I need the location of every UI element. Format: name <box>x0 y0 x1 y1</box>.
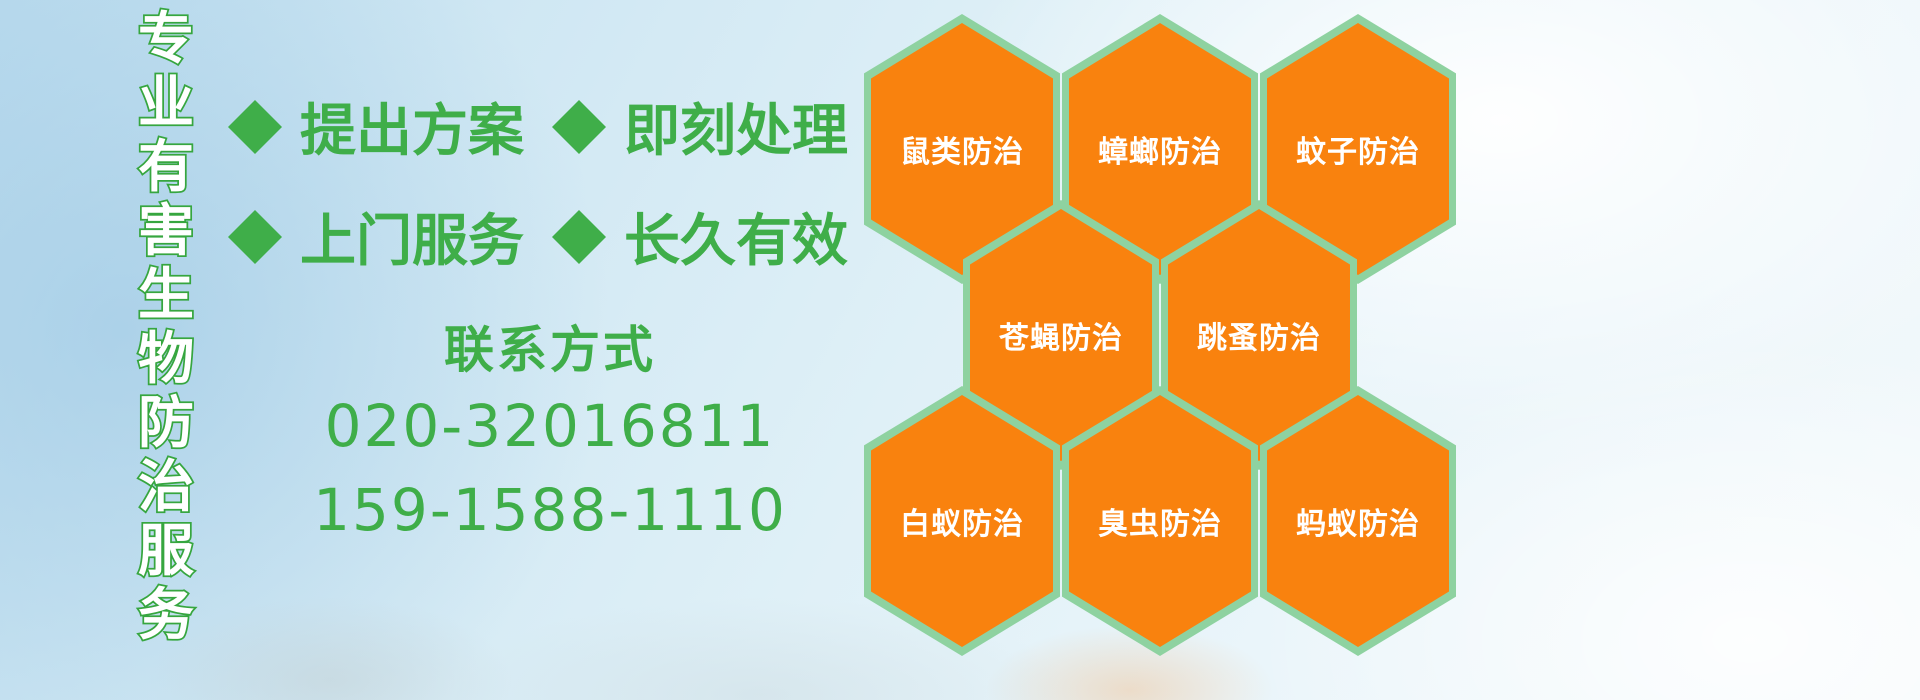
vertical-headline-char: 物 <box>138 328 194 392</box>
feature-row: 上门服务 长久有效 <box>228 196 848 277</box>
feature-item: 即刻处理 <box>552 86 848 167</box>
diamond-bullet-icon <box>228 73 282 127</box>
service-hex-label: 白蚁防治 <box>900 499 1024 543</box>
service-hex-label: 鼠类防治 <box>900 127 1024 171</box>
contact-phone-landline[interactable]: 020-32016811 <box>250 384 850 468</box>
promo-banner: 专 业 有 害 生 物 防 治 服 务 提出方案 即刻处理 上门服务 长久有效 <box>0 0 1920 700</box>
service-hex-label: 跳蚤防治 <box>1197 313 1321 357</box>
vertical-headline-char: 服 <box>138 520 194 584</box>
feature-label: 即刻处理 <box>624 86 848 167</box>
diamond-bullet-icon <box>552 73 606 127</box>
vertical-headline-char: 业 <box>138 72 194 136</box>
service-hex-label: 蟑螂防治 <box>1098 127 1222 171</box>
vertical-headline-char: 治 <box>138 456 194 520</box>
service-hex-label: 蚂蚁防治 <box>1296 499 1420 543</box>
feature-item: 长久有效 <box>552 196 848 277</box>
feature-label: 提出方案 <box>300 86 524 167</box>
contact-title: 联系方式 <box>250 316 850 384</box>
vertical-headline-char: 生 <box>138 264 194 328</box>
feature-item: 提出方案 <box>228 86 524 167</box>
service-hex-grid: 鼠类防治 蟑螂防治 蚊子防治 苍蝇防治 跳蚤防治 白蚁防治 臭虫防治 蚂蚁 <box>856 0 1476 700</box>
vertical-headline-char: 害 <box>138 200 194 264</box>
feature-label: 上门服务 <box>300 196 524 277</box>
vertical-headline-char: 专 <box>138 8 194 72</box>
diamond-bullet-icon <box>228 183 282 237</box>
service-hex-label: 苍蝇防治 <box>999 313 1123 357</box>
feature-row: 提出方案 即刻处理 <box>228 86 848 167</box>
contact-phone-mobile[interactable]: 159-1588-1110 <box>250 468 850 552</box>
service-hex-label: 蚊子防治 <box>1296 127 1420 171</box>
vertical-headline-char: 防 <box>138 392 194 456</box>
feature-label: 长久有效 <box>624 196 848 277</box>
vertical-headline-char: 有 <box>138 136 194 200</box>
contact-block: 联系方式 020-32016811 159-1588-1110 <box>250 316 850 552</box>
vertical-headline: 专 业 有 害 生 物 防 治 服 务 <box>112 8 220 668</box>
vertical-headline-char: 务 <box>138 584 194 648</box>
service-hex-label: 臭虫防治 <box>1098 499 1222 543</box>
feature-item: 上门服务 <box>228 196 524 277</box>
diamond-bullet-icon <box>552 183 606 237</box>
